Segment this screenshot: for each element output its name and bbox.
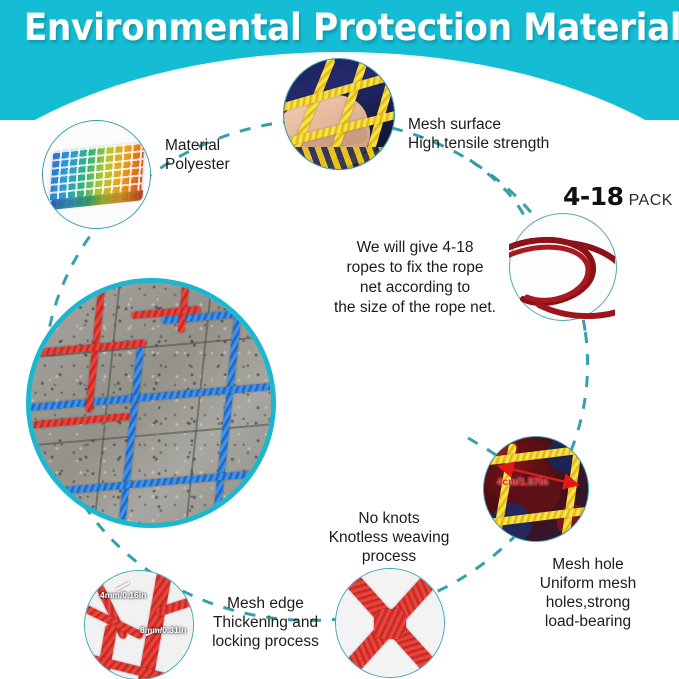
callout-mesh-edge: Mesh edgeThickening andlocking process [193,594,338,651]
pack-word: PACK [629,192,673,209]
measure-hole-size: 4cm/1.57in [497,477,548,488]
callout-material-line1: Material [165,137,220,154]
measure-rope-thin: 4mm/0.16in [100,590,146,600]
callout-mesh-hole-line3: holes,strong [546,594,630,611]
callout-mesh-edge-line2: Thickening and [213,614,318,631]
callout-no-knots: No knotsKnotless weavingprocess [313,509,465,566]
red-rope-coil-image [509,213,615,319]
rope-note-line3: net according to [360,279,470,296]
callout-mesh-surface-line2: High tensile strength [408,135,549,152]
net-on-concrete-image [31,283,271,523]
callout-mesh-surface-line1: Mesh surface [408,116,501,133]
callout-no-knots-line2: Knotless weaving [329,529,450,546]
pack-badge: 4-18PACK [563,182,673,211]
photo-mesh-surface [283,58,395,170]
pack-count: 4-18 [563,182,624,211]
hole-size-arrow-icon [484,437,588,541]
measure-rope-thick: 8mm/0.31in [140,625,186,635]
callout-mesh-edge-line1: Mesh edge [227,595,304,612]
callout-material-line2: Polyester [165,156,230,173]
photo-material-polyester [42,120,151,229]
photo-main-net [26,278,276,528]
rope-note-line1: We will give 4-18 [357,239,474,256]
photo-rope-coil [509,213,617,321]
photo-no-knots [335,568,445,678]
callout-mesh-hole: Mesh holeUniform meshholes,strongload-be… [522,555,654,631]
red-cross-weave-image [336,569,444,677]
callout-rope-note: We will give 4-18ropes to fix the ropene… [320,238,510,318]
callout-mesh-hole-line4: load-bearing [545,613,631,630]
callout-mesh-edge-line3: locking process [212,633,319,650]
rope-note-line2: ropes to fix the rope [347,259,484,276]
page-title: Environmental Protection Material [24,5,655,51]
callout-mesh-hole-line2: Uniform mesh [540,575,636,592]
callout-no-knots-line3: process [362,548,416,565]
callout-material: MaterialPolyester [165,136,230,174]
photo-mesh-hole [483,436,589,542]
rainbow-net-image [43,121,150,228]
yellow-mesh-hand-image [284,59,394,169]
callout-no-knots-line1: No knots [358,510,419,527]
callout-mesh-surface: Mesh surfaceHigh tensile strength [408,115,549,153]
callout-mesh-hole-line1: Mesh hole [552,556,624,573]
rope-note-line4: the size of the rope net. [334,299,496,316]
product-infographic: Environmental Protection Material Materi… [0,0,679,679]
